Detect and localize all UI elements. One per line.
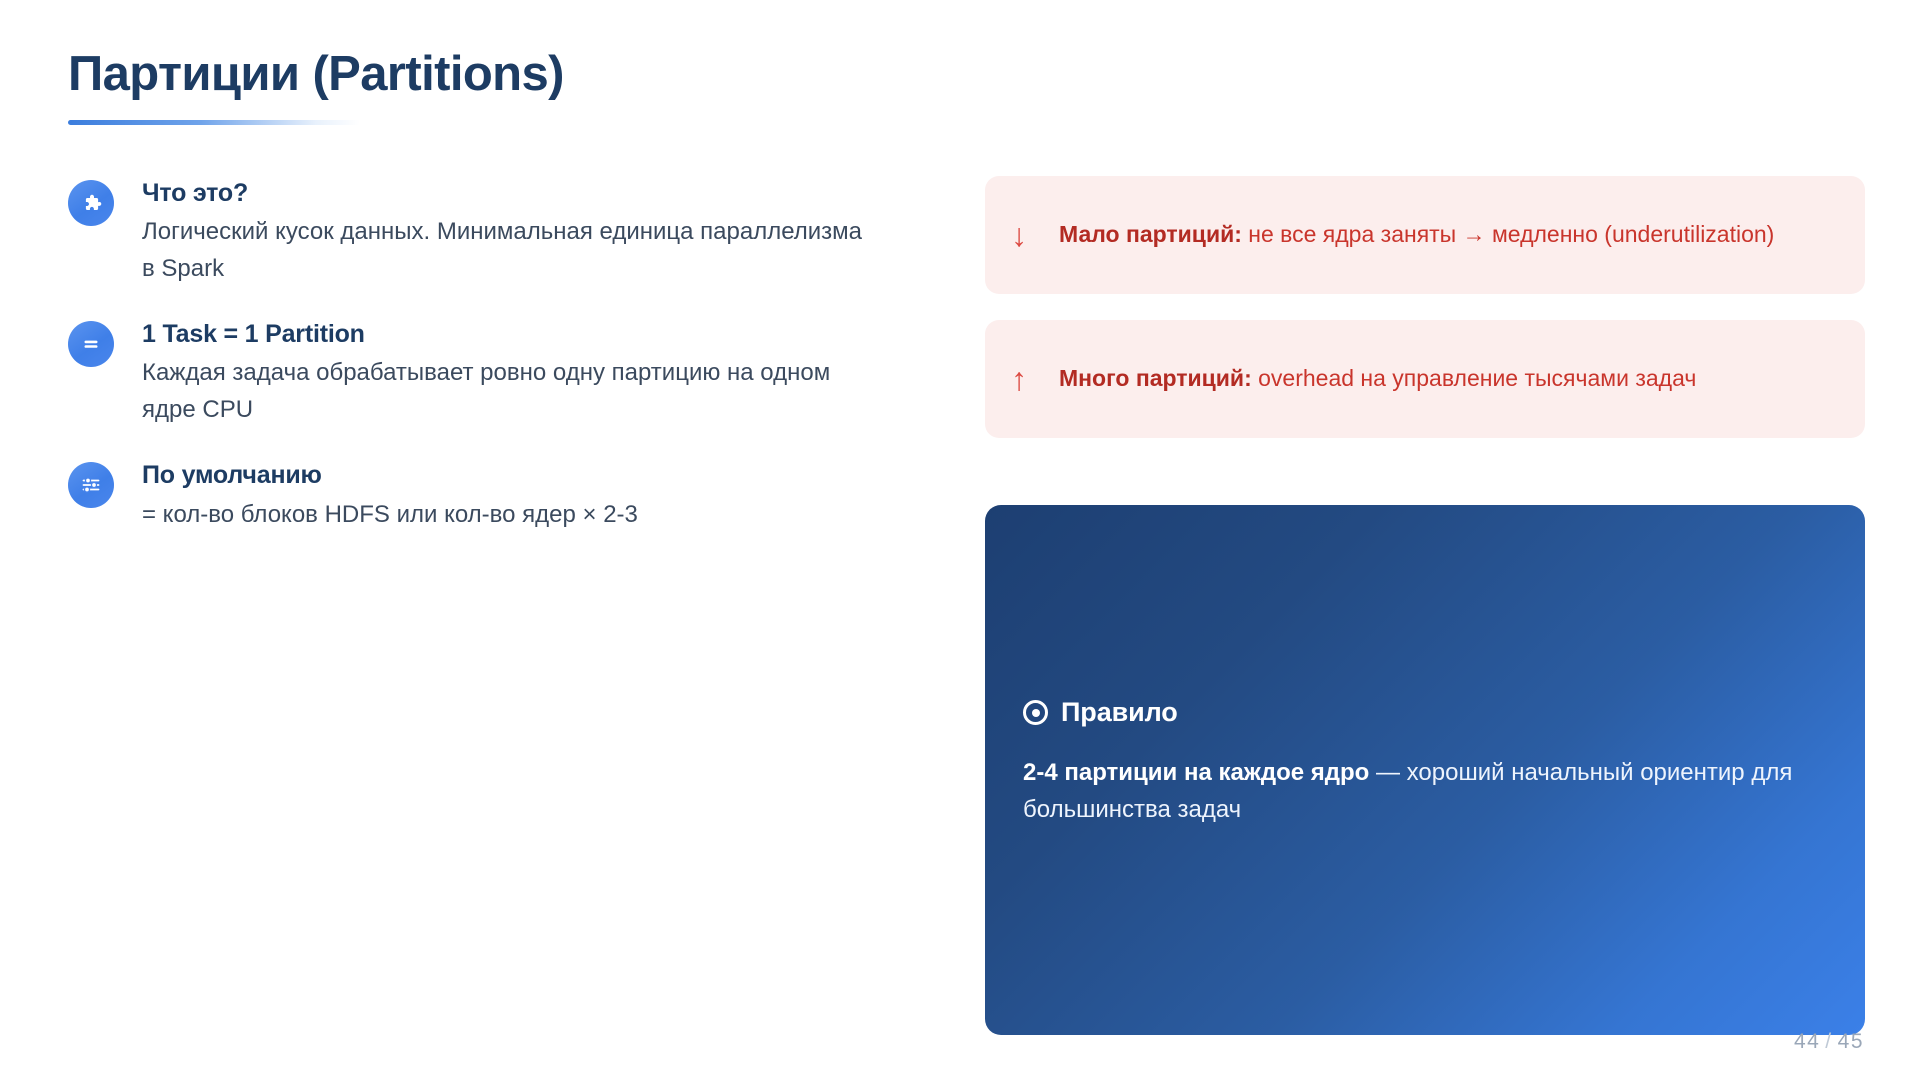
page-separator: / (1820, 1030, 1837, 1053)
alert-detail: overhead на управление тысячами задач (1252, 365, 1697, 391)
feature-body: Логический кусок данных. Минимальная еди… (142, 214, 862, 287)
alert-card-list: ↓ Мало партиций: не все ядра заняты → ме… (985, 176, 1865, 464)
puzzle-piece-icon (68, 180, 114, 226)
alert-text: Много партиций: overhead на управление т… (1059, 361, 1696, 397)
feature-title: По умолчанию (142, 460, 928, 491)
feature-title: 1 Task = 1 Partition (142, 319, 928, 350)
rule-card: Правило 2-4 партиции на каждое ядро — хо… (985, 505, 1865, 1035)
rule-lead: 2-4 партиции на каждое ядро (1023, 759, 1369, 786)
feature-title: Что это? (142, 178, 928, 209)
title-block: Партиции (Partitions) (68, 48, 1168, 125)
feature-item-task-partition: 1 Task = 1 Partition Каждая задача обраб… (68, 319, 928, 428)
alert-card-many-partitions: ↑ Много партиций: overhead на управление… (985, 320, 1865, 438)
alert-detail: не все ядра заняты → медленно (underutil… (1242, 221, 1774, 247)
equals-icon (68, 321, 114, 367)
alert-label: Мало партиций: (1059, 221, 1242, 247)
feature-body: = кол-во блоков HDFS или кол-во ядер × 2… (142, 497, 862, 533)
page-number: 44/45 (1794, 1030, 1864, 1054)
feature-item-what-is-it: Что это? Логический кусок данных. Минима… (68, 178, 928, 287)
rule-card-content: Правило 2-4 партиции на каждое ядро — хо… (985, 697, 1865, 829)
bullseye-icon (1023, 700, 1048, 725)
page-title: Партиции (Partitions) (68, 48, 1168, 102)
alert-text: Мало партиций: не все ядра заняты → медл… (1059, 217, 1774, 253)
rule-heading: Правило (1023, 697, 1827, 728)
sliders-icon (68, 462, 114, 508)
slide-root: Партиции (Partitions) Что это? Логически… (0, 0, 1920, 1080)
alert-label: Много партиций: (1059, 365, 1252, 391)
rule-body: 2-4 партиции на каждое ядро — хороший на… (1023, 754, 1827, 829)
title-underline (68, 120, 360, 125)
feature-body: Каждая задача обрабатывает ровно одну па… (142, 355, 862, 428)
alert-card-few-partitions: ↓ Мало партиций: не все ядра заняты → ме… (985, 176, 1865, 294)
arrow-up-icon: ↑ (1011, 363, 1027, 395)
page-current: 44 (1794, 1030, 1820, 1053)
feature-item-default: По умолчанию = кол-во блоков HDFS или ко… (68, 460, 928, 533)
feature-list: Что это? Логический кусок данных. Минима… (68, 178, 928, 533)
page-total: 45 (1838, 1030, 1864, 1053)
arrow-down-icon: ↓ (1011, 219, 1027, 251)
rule-heading-label: Правило (1061, 697, 1178, 728)
